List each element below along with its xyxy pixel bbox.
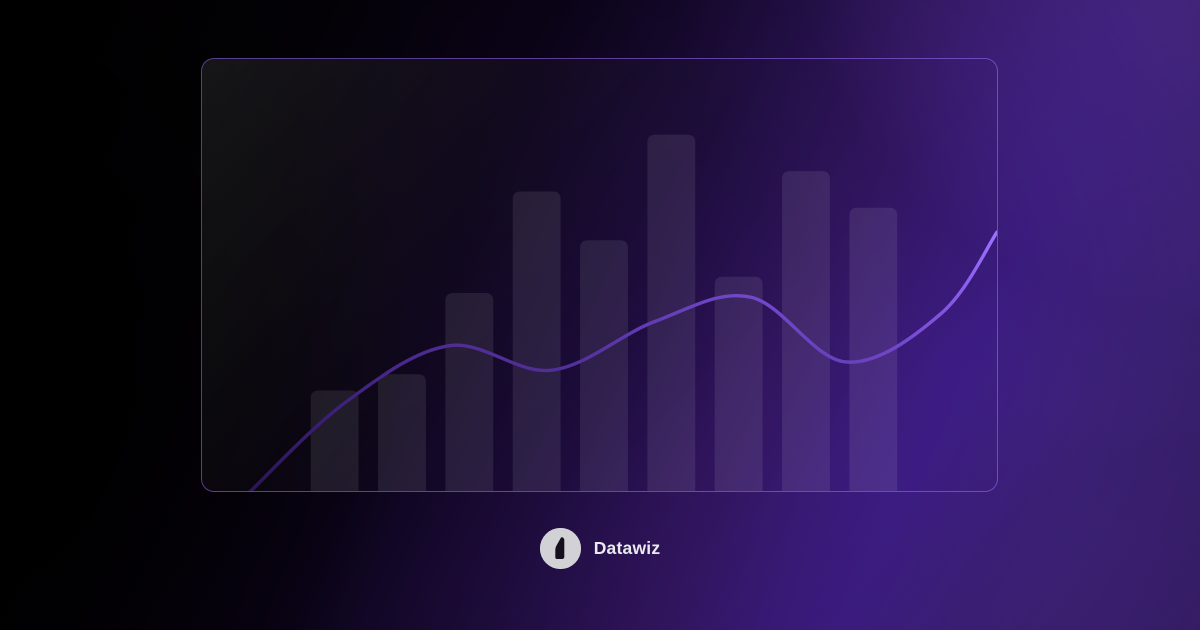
bar (311, 390, 359, 491)
bar (445, 293, 493, 491)
bar (513, 191, 561, 491)
bar-line-chart (202, 59, 997, 491)
chart-plot-area (202, 59, 997, 491)
brand-name: Datawiz (594, 540, 661, 558)
bar (782, 171, 830, 491)
bar (378, 374, 426, 491)
bar-series (311, 135, 898, 491)
datawiz-droplet-logo-icon (540, 528, 581, 569)
poster-canvas: Datawiz (0, 0, 1200, 630)
bar (647, 135, 695, 491)
chart-card (201, 58, 998, 492)
brand-lockup: Datawiz (0, 528, 1200, 569)
bar (715, 277, 763, 491)
bar (580, 240, 628, 491)
